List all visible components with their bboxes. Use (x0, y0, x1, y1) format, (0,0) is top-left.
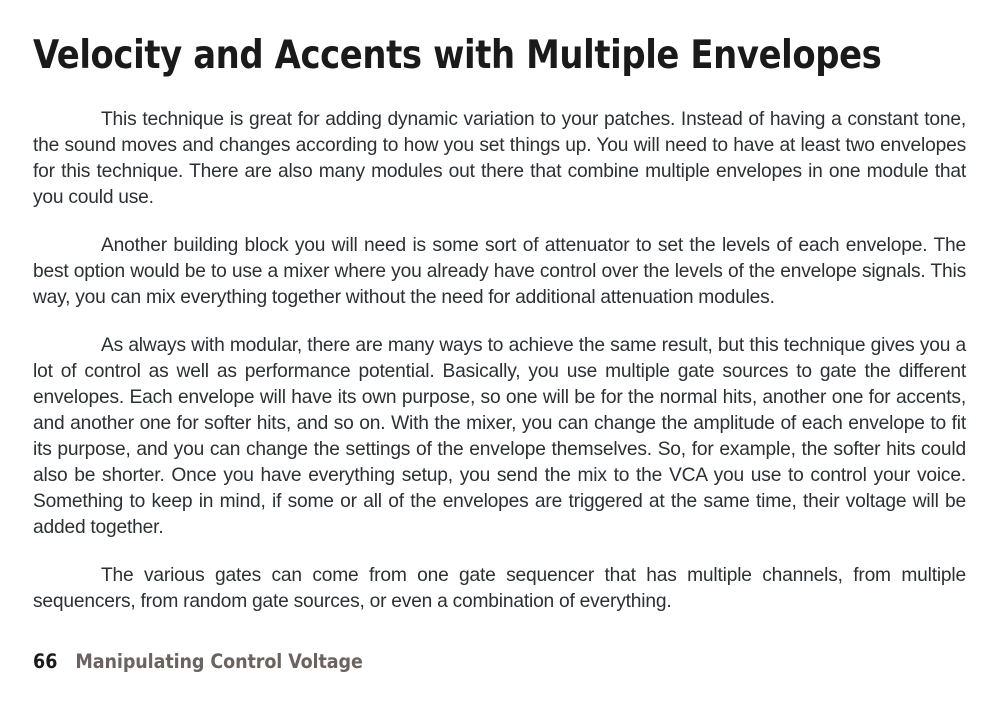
body-paragraph: This technique is great for adding dynam… (33, 107, 966, 211)
body-paragraph: Another building block you will need is … (33, 233, 966, 311)
document-page: Velocity and Accents with Multiple Envel… (0, 0, 1005, 724)
footer-chapter-title: Manipulating Control Voltage (75, 650, 362, 673)
page-title: Velocity and Accents with Multiple Envel… (33, 0, 933, 79)
body-paragraph: The various gates can come from one gate… (33, 563, 966, 615)
body-copy: This technique is great for adding dynam… (33, 107, 966, 615)
body-paragraph: As always with modular, there are many w… (33, 333, 966, 541)
page-footer: 66 Manipulating Control Voltage (33, 650, 363, 673)
footer-page-number: 66 (33, 650, 57, 673)
